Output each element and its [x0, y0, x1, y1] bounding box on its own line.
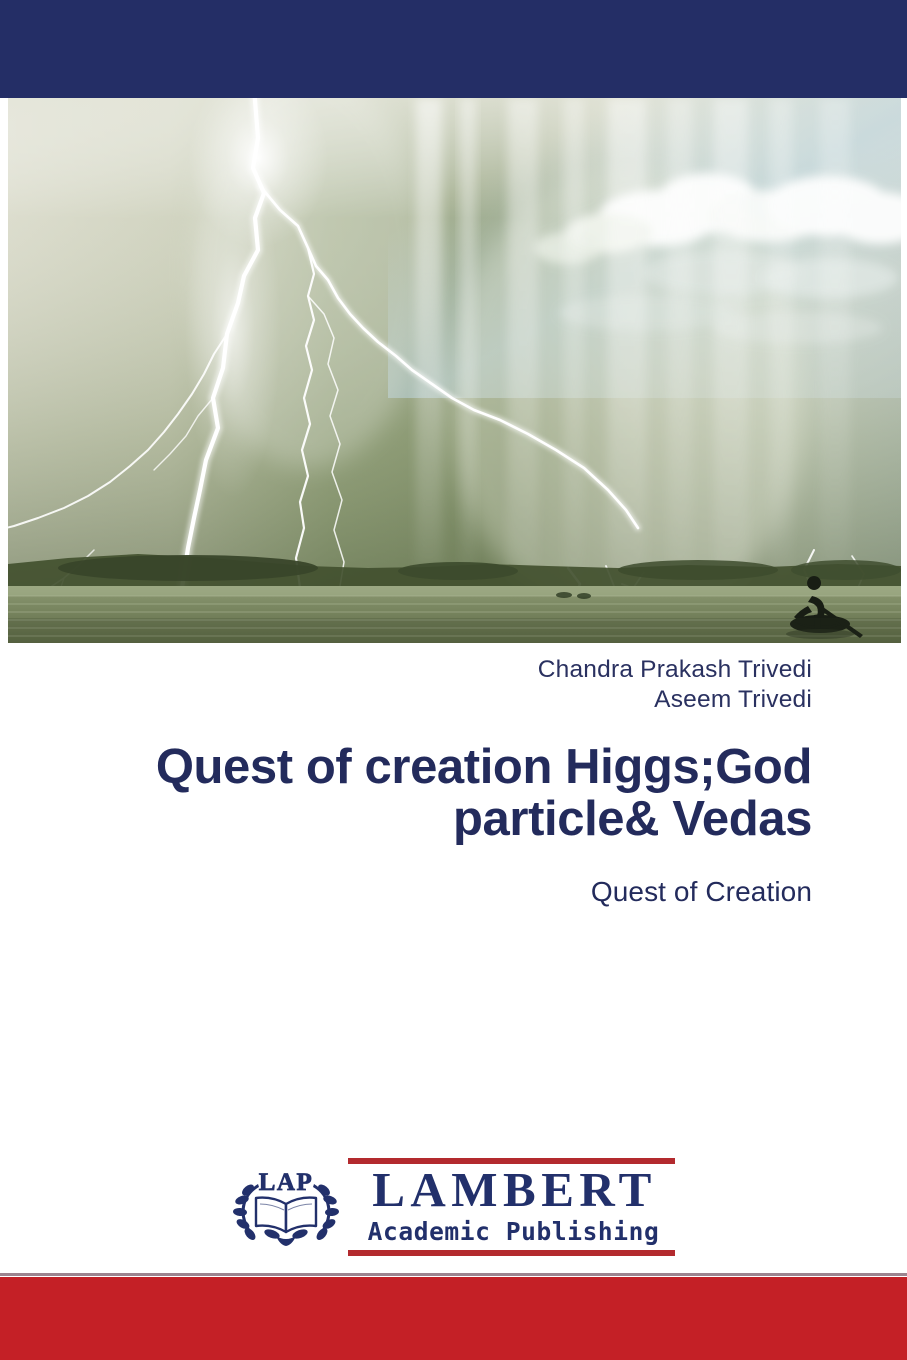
- author-name-secondary: Aseem Trivedi: [60, 685, 812, 715]
- lap-book-laurel-icon: LAP: [232, 1164, 340, 1250]
- logo-rule-bottom: [348, 1250, 675, 1256]
- cover-photo: [8, 98, 901, 643]
- top-color-band: [0, 0, 907, 98]
- bottom-band-hairline: [0, 1273, 907, 1276]
- publisher-logo: LAP: [0, 1158, 907, 1256]
- book-title: Quest of creation Higgs;God particle& Ve…: [60, 741, 812, 845]
- author-name-primary: Chandra Prakash Trivedi: [60, 655, 812, 685]
- svg-text:LAP: LAP: [259, 1169, 314, 1196]
- book-subtitle: Quest of Creation: [60, 875, 812, 909]
- publisher-name: LAMBERT: [348, 1164, 675, 1216]
- cover-text-block: Chandra Prakash Trivedi Aseem Trivedi Qu…: [0, 655, 907, 909]
- publisher-tagline: Academic Publishing: [348, 1216, 675, 1250]
- bottom-color-band: [0, 1277, 907, 1360]
- storm-scene-illustration: [8, 98, 901, 643]
